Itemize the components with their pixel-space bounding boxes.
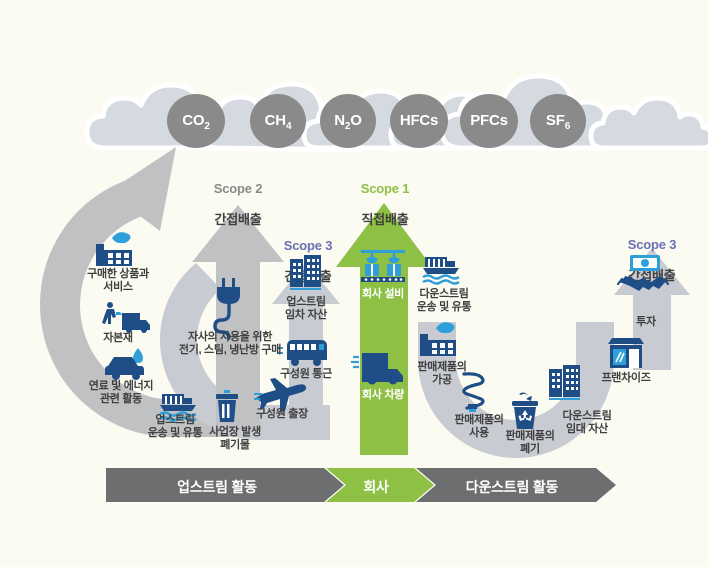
banner-company-label: 회사 bbox=[336, 477, 416, 497]
banner-upstream-label: 업스트림 활동 bbox=[110, 477, 324, 497]
ghg-scope-diagram: CO2 CH4 N2O HFCs PFCs SF6 Scope 2 간접배출 S… bbox=[0, 0, 708, 567]
banner-downstream-label: 다운스트림 활동 bbox=[424, 477, 600, 497]
